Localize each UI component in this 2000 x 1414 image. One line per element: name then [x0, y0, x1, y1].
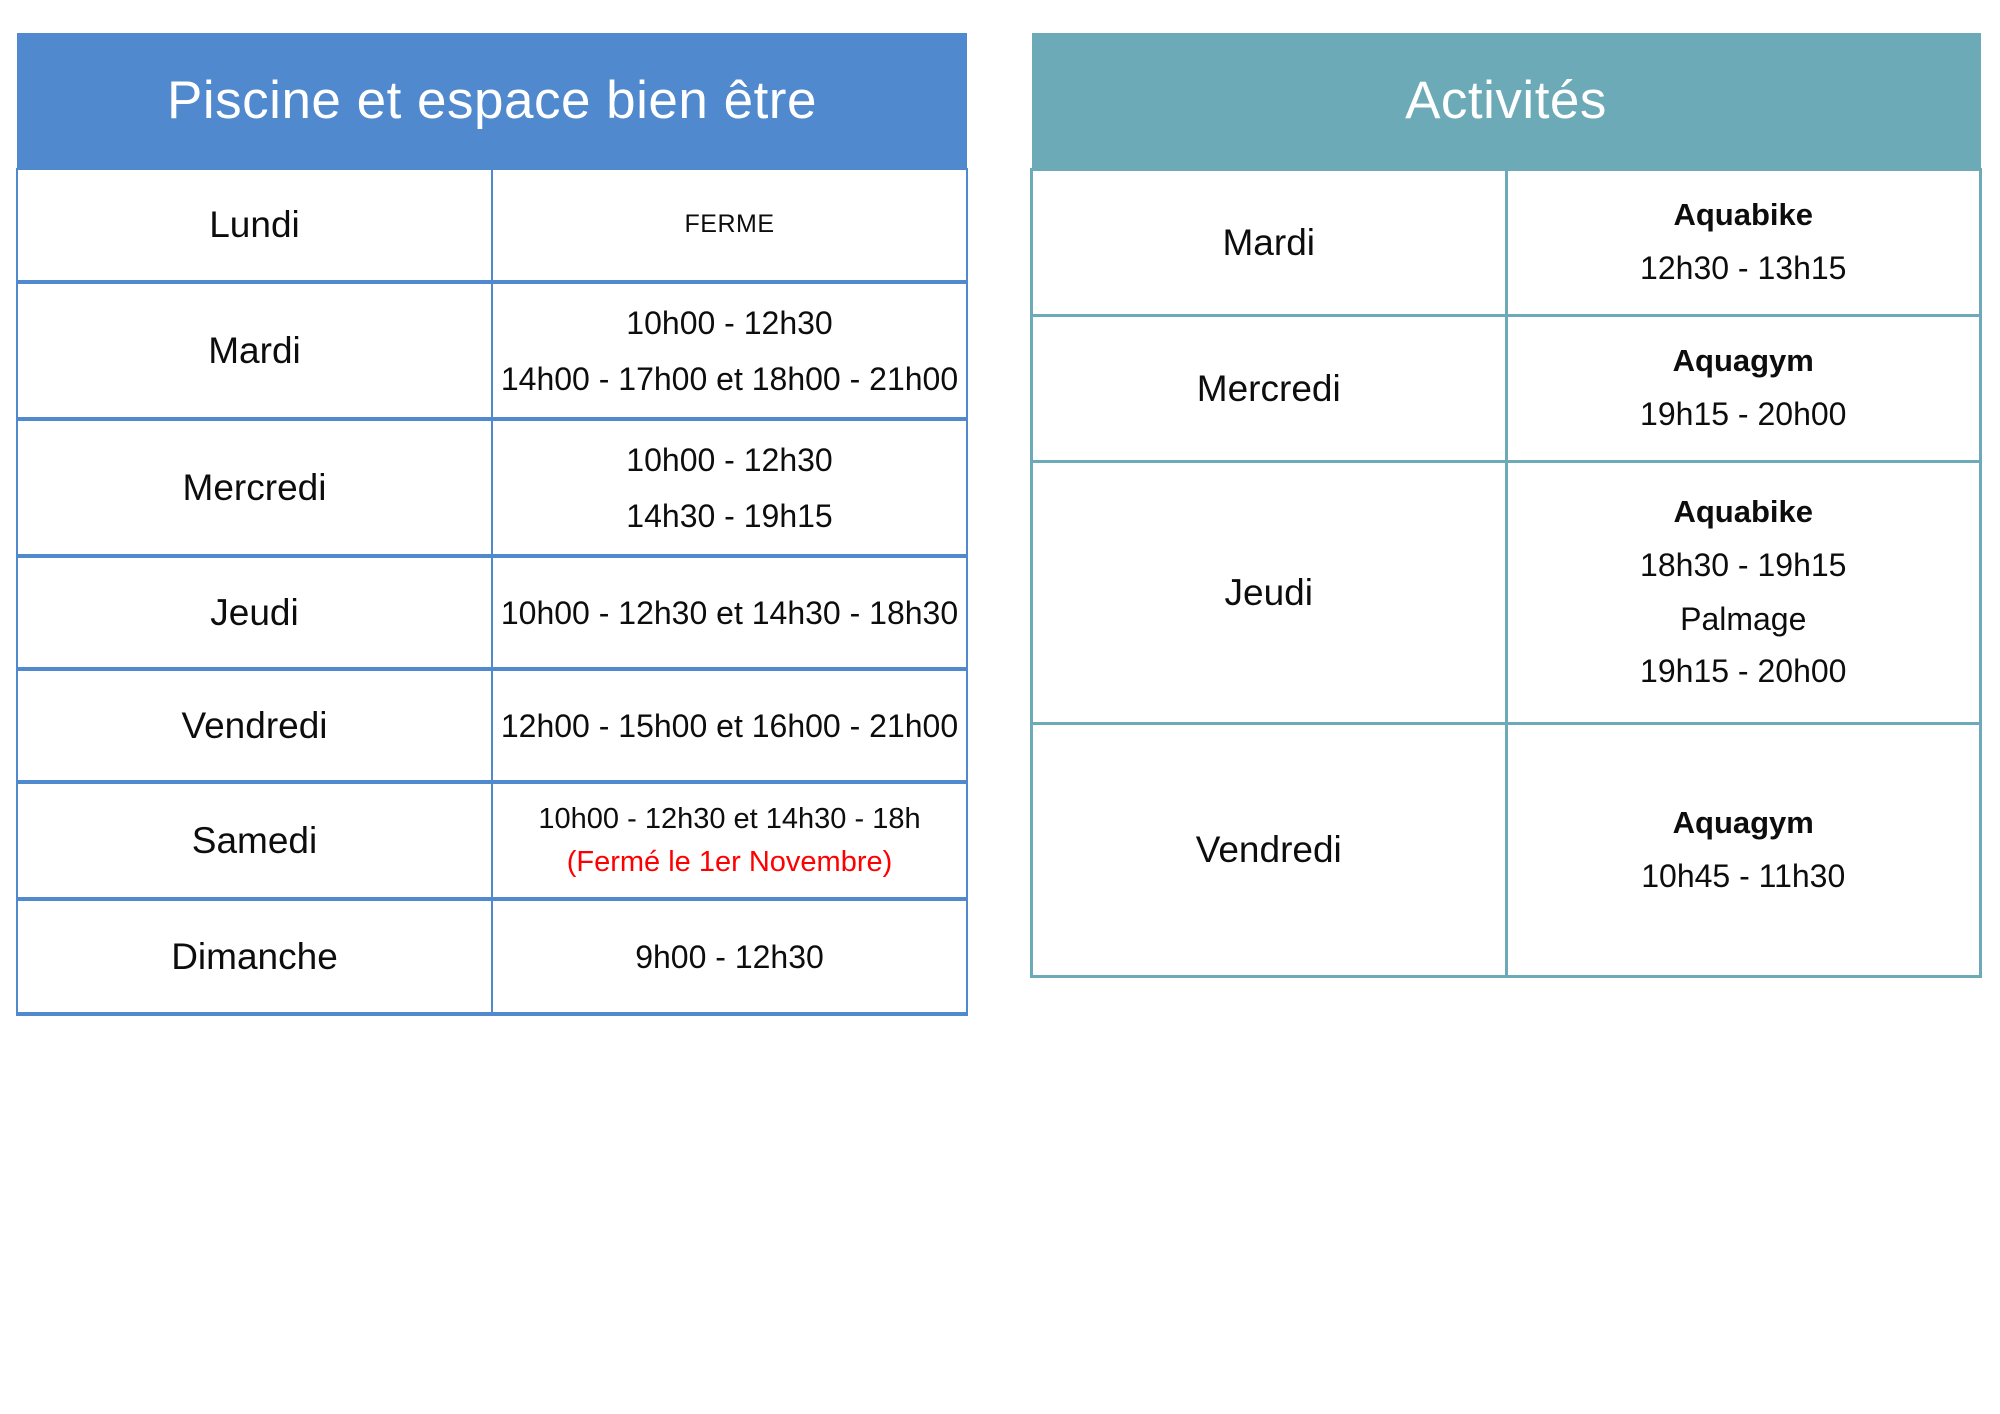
pool-hours-line: 12h00 - 15h00 et 16h00 - 21h00	[494, 698, 965, 754]
pool-hours-line: 9h00 - 12h30	[494, 929, 965, 985]
pool-header-row: Piscine et espace bien être	[17, 33, 967, 169]
activity-day-mardi: Mardi	[1032, 170, 1507, 316]
pool-hours-line: FERME	[494, 203, 965, 247]
pool-hours-line: 10h00 - 12h30 et 14h30 - 18h	[494, 798, 965, 840]
table-row: Vendredi 12h00 - 15h00 et 16h00 - 21h00	[17, 669, 967, 782]
pool-hours-line: 14h00 - 17h00 et 18h00 - 21h00	[494, 351, 965, 407]
pool-hours-mardi: 10h00 - 12h30 14h00 - 17h00 et 18h00 - 2…	[492, 282, 967, 419]
table-row: Dimanche 9h00 - 12h30	[17, 899, 967, 1014]
pool-hours-line: 10h00 - 12h30	[494, 295, 965, 351]
activity-detail-jeudi: Aquabike 18h30 - 19h15 Palmage 19h15 - 2…	[1506, 462, 1981, 724]
pool-day-dimanche: Dimanche	[17, 899, 492, 1014]
activity-time: 10h45 - 11h30	[1508, 860, 1980, 892]
activities-header-row: Activités	[1032, 33, 1981, 170]
pool-hours-jeudi: 10h00 - 12h30 et 14h30 - 18h30	[492, 556, 967, 669]
pool-day-mercredi: Mercredi	[17, 419, 492, 556]
pool-table-title: Piscine et espace bien être	[17, 33, 967, 169]
table-row: Vendredi Aquagym 10h45 - 11h30	[1032, 724, 1981, 977]
activities-table-title: Activités	[1032, 33, 1981, 170]
pool-closed-note: (Fermé le 1er Novembre)	[494, 841, 965, 883]
pool-hours-line: 14h30 - 19h15	[494, 488, 965, 544]
table-row: Samedi 10h00 - 12h30 et 14h30 - 18h (Fer…	[17, 782, 967, 899]
pool-hours-mercredi: 10h00 - 12h30 14h30 - 19h15	[492, 419, 967, 556]
table-row: Jeudi 10h00 - 12h30 et 14h30 - 18h30	[17, 556, 967, 669]
activity-name: Aquagym	[1508, 807, 1980, 838]
table-row: Lundi FERME	[17, 169, 967, 282]
table-row: Mercredi 10h00 - 12h30 14h30 - 19h15	[17, 419, 967, 556]
pool-day-samedi: Samedi	[17, 782, 492, 899]
pool-hours-line: 10h00 - 12h30	[494, 432, 965, 488]
activity-detail-vendredi: Aquagym 10h45 - 11h30	[1506, 724, 1981, 977]
activity-name-secondary: Palmage	[1508, 603, 1980, 635]
table-row: Mercredi Aquagym 19h15 - 20h00	[1032, 316, 1981, 462]
activity-name: Aquagym	[1508, 345, 1980, 376]
activities-schedule-table: Activités Mardi Aquabike 12h30 - 13h15 M…	[1030, 33, 1982, 978]
activity-time-secondary: 19h15 - 20h00	[1508, 655, 1980, 687]
pool-hours-lundi: FERME	[492, 169, 967, 282]
pool-hours-dimanche: 9h00 - 12h30	[492, 899, 967, 1014]
pool-day-mardi: Mardi	[17, 282, 492, 419]
activity-time: 19h15 - 20h00	[1508, 398, 1980, 430]
table-row: Mardi 10h00 - 12h30 14h00 - 17h00 et 18h…	[17, 282, 967, 419]
pool-hours-vendredi: 12h00 - 15h00 et 16h00 - 21h00	[492, 669, 967, 782]
activity-name: Aquabike	[1508, 199, 1980, 230]
activity-time: 12h30 - 13h15	[1508, 252, 1980, 284]
activity-detail-mardi: Aquabike 12h30 - 13h15	[1506, 170, 1981, 316]
pool-schedule-table: Piscine et espace bien être Lundi FERME …	[16, 33, 968, 1016]
pool-hours-line: 10h00 - 12h30 et 14h30 - 18h30	[494, 585, 965, 641]
pool-day-jeudi: Jeudi	[17, 556, 492, 669]
activity-time: 18h30 - 19h15	[1508, 549, 1980, 581]
pool-day-lundi: Lundi	[17, 169, 492, 282]
activity-day-mercredi: Mercredi	[1032, 316, 1507, 462]
activity-name: Aquabike	[1508, 496, 1980, 527]
pool-hours-samedi: 10h00 - 12h30 et 14h30 - 18h (Fermé le 1…	[492, 782, 967, 899]
table-row: Jeudi Aquabike 18h30 - 19h15 Palmage 19h…	[1032, 462, 1981, 724]
pool-day-vendredi: Vendredi	[17, 669, 492, 782]
activity-detail-mercredi: Aquagym 19h15 - 20h00	[1506, 316, 1981, 462]
table-row: Mardi Aquabike 12h30 - 13h15	[1032, 170, 1981, 316]
activity-day-jeudi: Jeudi	[1032, 462, 1507, 724]
activity-day-vendredi: Vendredi	[1032, 724, 1507, 977]
